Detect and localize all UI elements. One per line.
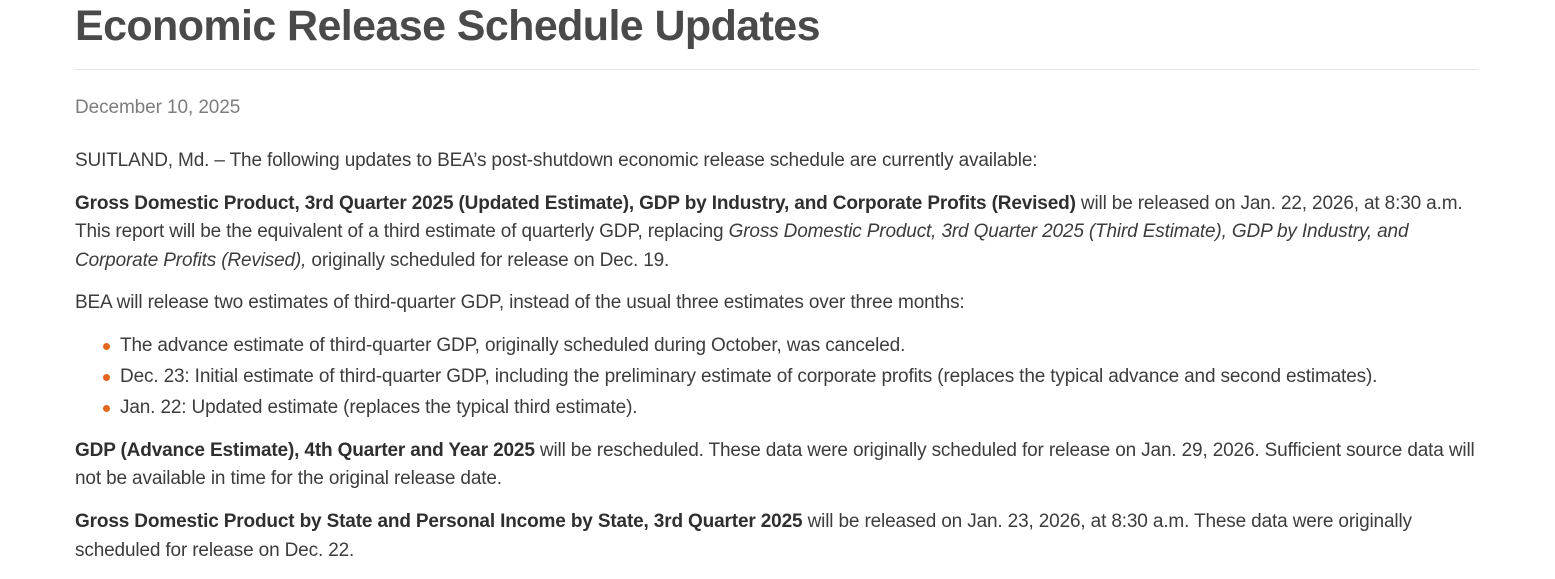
list-item: The advance estimate of third-quarter GD… <box>75 332 1478 361</box>
list-item-label: Jan. 22: Updated estimate (replaces the … <box>120 397 637 418</box>
page-title: Economic Release Schedule Updates <box>75 0 1478 52</box>
gdp-q3-bold-lead: Gross Domestic Product, 3rd Quarter 2025… <box>75 193 1076 214</box>
paragraph-gdp-q3: Gross Domestic Product, 3rd Quarter 2025… <box>75 190 1478 276</box>
paragraph-two-estimates: BEA will release two estimates of third-… <box>75 289 1478 318</box>
intro-text: SUITLAND, Md. – The following updates to… <box>75 150 1037 171</box>
list-item: Jan. 22: Updated estimate (replaces the … <box>75 394 1478 423</box>
bullet-dot-icon <box>103 374 110 381</box>
list-item-label: The advance estimate of third-quarter GD… <box>120 335 905 356</box>
article-page: Economic Release Schedule Updates Decemb… <box>0 0 1555 576</box>
gdp-q4-bold-lead: GDP (Advance Estimate), 4th Quarter and … <box>75 440 535 461</box>
estimates-bullet-list: The advance estimate of third-quarter GD… <box>75 332 1478 423</box>
list-item-label: Dec. 23: Initial estimate of third-quart… <box>120 366 1377 387</box>
article-content-column: Economic Release Schedule Updates Decemb… <box>75 0 1478 579</box>
gdp-state-bold-lead: Gross Domestic Product by State and Pers… <box>75 511 802 532</box>
paragraph-gdp-by-state: Gross Domestic Product by State and Pers… <box>75 508 1478 565</box>
gdp-q3-text-2: originally scheduled for release on Dec.… <box>306 250 669 271</box>
bullet-dot-icon <box>103 405 110 412</box>
bullet-dot-icon <box>103 343 110 350</box>
list-item: Dec. 23: Initial estimate of third-quart… <box>75 363 1478 392</box>
paragraph-intro: SUITLAND, Md. – The following updates to… <box>75 147 1478 176</box>
two-estimates-text: BEA will release two estimates of third-… <box>75 292 965 313</box>
publish-date: December 10, 2025 <box>75 70 1478 120</box>
article-body: SUITLAND, Md. – The following updates to… <box>75 120 1478 565</box>
paragraph-gdp-q4: GDP (Advance Estimate), 4th Quarter and … <box>75 437 1478 494</box>
